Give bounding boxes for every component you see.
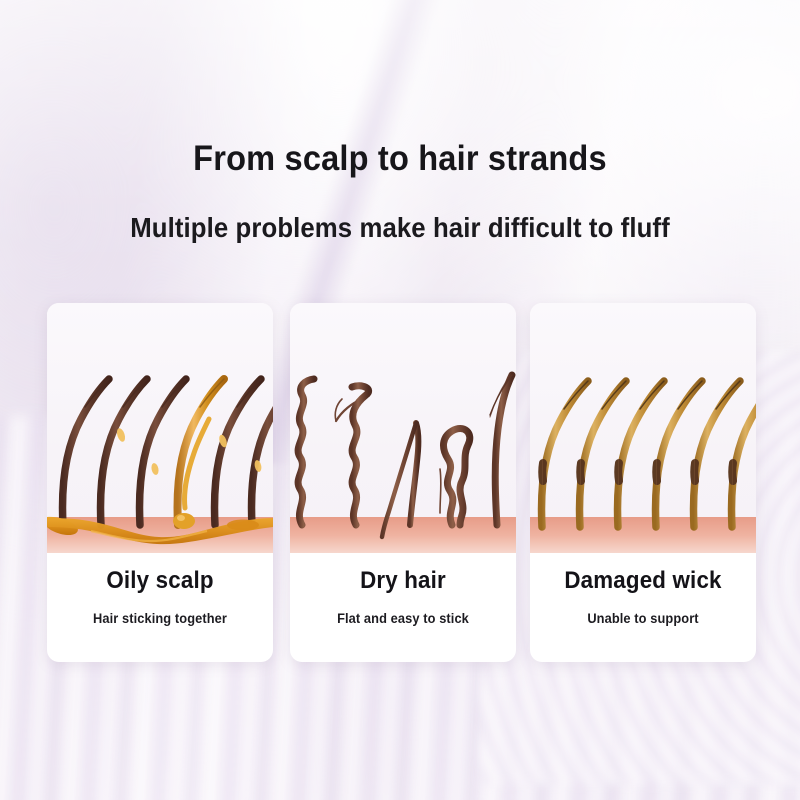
card-caption: Oily scalp Hair sticking together [47, 553, 273, 626]
card-subtitle: Flat and easy to stick [296, 611, 511, 626]
page-title: From scalp to hair strands [28, 139, 772, 179]
card-title: Damaged wick [538, 567, 748, 595]
card-damaged-wick[interactable]: Damaged wick Unable to support [530, 303, 756, 662]
card-subtitle: Hair sticking together [53, 611, 268, 626]
card-caption: Damaged wick Unable to support [530, 553, 756, 626]
card-title: Dry hair [298, 567, 508, 595]
card-dry-hair[interactable]: Dry hair Flat and easy to stick [290, 303, 516, 662]
card-subtitle: Unable to support [536, 611, 751, 626]
oily-scalp-illustration [47, 303, 273, 553]
damaged-wick-illustration [530, 303, 756, 553]
dry-hair-illustration [290, 303, 516, 553]
problem-cards-row: Oily scalp Hair sticking together [0, 303, 800, 665]
card-oily-scalp[interactable]: Oily scalp Hair sticking together [47, 303, 273, 662]
page-subtitle: Multiple problems make hair difficult to… [32, 212, 768, 244]
card-title: Oily scalp [55, 567, 265, 595]
card-caption: Dry hair Flat and easy to stick [290, 553, 516, 626]
